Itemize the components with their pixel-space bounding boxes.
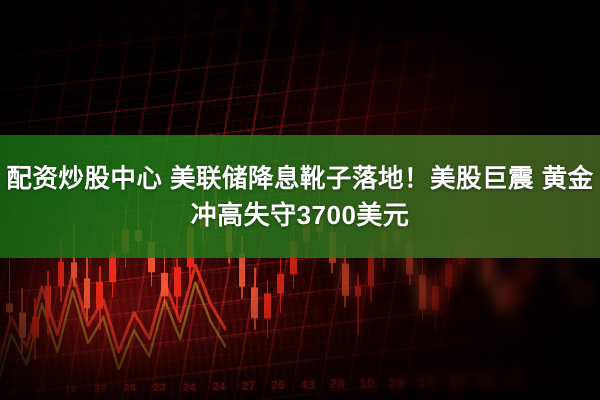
headline-band: 配资炒股中心 美联储降息靴子落地！美股巨震 黄金 冲高失守3700美元 <box>0 135 600 258</box>
headline-line-2: 冲高失守3700美元 <box>191 198 410 232</box>
news-thumbnail-image: 2833383837392742 16121537262324242726432… <box>0 0 600 400</box>
headline-line-1: 配资炒股中心 美联储降息靴子落地！美股巨震 黄金 <box>6 162 593 196</box>
